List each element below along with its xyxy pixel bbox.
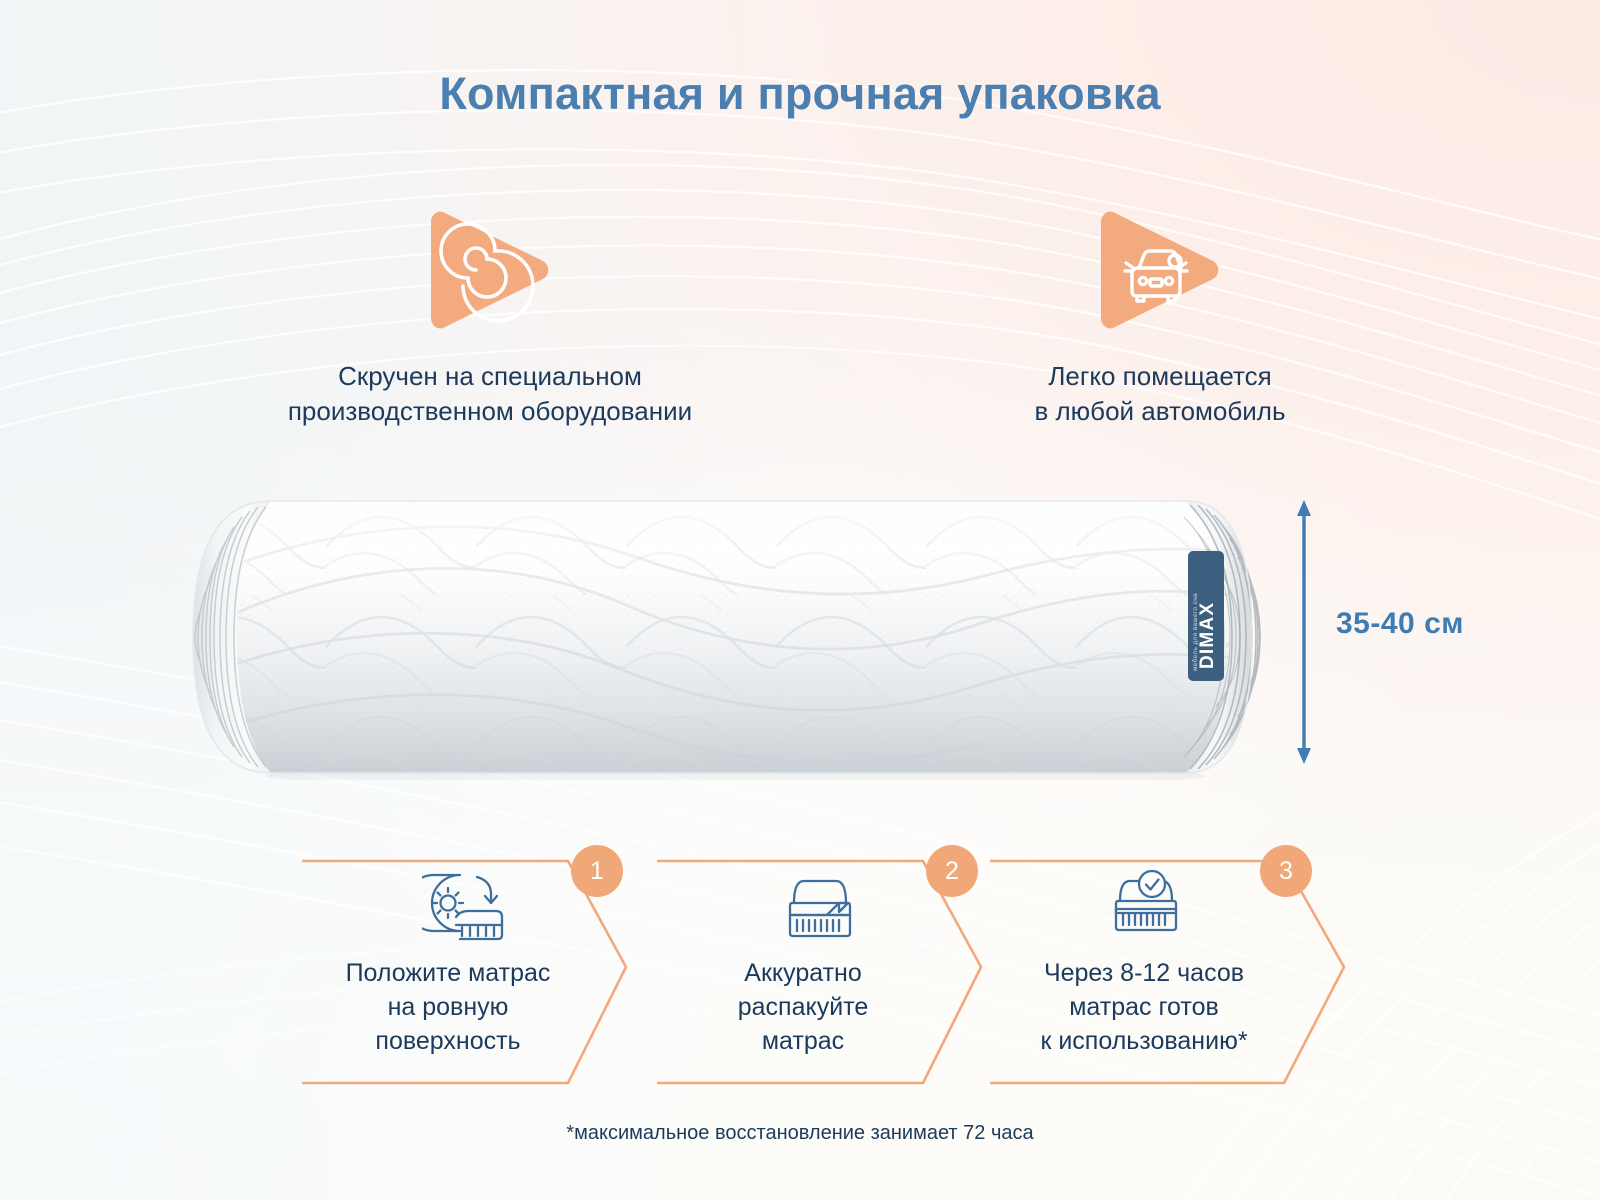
spiral-roll-icon: [415, 195, 565, 345]
infographic-canvas: Компактная и прочная упаковка Скручен на…: [0, 0, 1600, 1200]
feature-caption: Скручен на специальном производственном …: [160, 359, 820, 428]
feature-rolled-on-equipment: Скручен на специальном производственном …: [160, 195, 820, 428]
step-place-mattress: 1 Положите матрас на ровную поверхность: [300, 845, 630, 1090]
car-front-icon: [1085, 195, 1235, 345]
step-caption: Аккуратно распакуйте матрас: [655, 957, 951, 1058]
step-mattress-ready: 3 Через 8-12 часов матрас готов к исполь…: [988, 845, 1348, 1090]
brand-label-tagline: мебель для вашего сна: [1191, 593, 1199, 671]
footnote-text: *максимальное восстановление занимает 72…: [0, 1122, 1600, 1145]
step-unpack-mattress: 2 Аккуратно распакуйте матрас: [655, 845, 985, 1090]
mattress-roll-graphic: DIMAX мебель для вашего сна: [176, 495, 1276, 780]
page-title: Компактная и прочная упаковка: [0, 68, 1600, 120]
rolled-mattress-image: DIMAX мебель для вашего сна: [176, 495, 1276, 780]
step-caption: Положите матрас на ровную поверхность: [300, 957, 596, 1058]
step-number-badge: 2: [926, 845, 978, 897]
dimension-arrow-icon: [1296, 500, 1312, 764]
unpack-mattress-icon: [777, 867, 863, 945]
feature-icon-wrapper: [1085, 195, 1235, 345]
feature-fits-in-car: Легко помещается в любой автомобиль: [860, 195, 1460, 428]
mattress-ready-check-icon: [1103, 867, 1189, 945]
dimension-label: 35-40 см: [1336, 607, 1464, 641]
feature-icon-wrapper: [415, 195, 565, 345]
unrolling-mattress-icon: [422, 867, 508, 945]
brand-label-name: DIMAX: [1197, 602, 1218, 669]
steps-section: 1 Положите матрас на ровную поверхность: [300, 845, 1300, 1090]
brand-label: DIMAX мебель для вашего сна: [1188, 551, 1224, 681]
step-number-badge: 1: [571, 845, 623, 897]
step-number-badge: 3: [1260, 845, 1312, 897]
feature-caption: Легко помещается в любой автомобиль: [860, 359, 1460, 428]
step-caption: Через 8-12 часов матрас готов к использо…: [980, 957, 1308, 1058]
